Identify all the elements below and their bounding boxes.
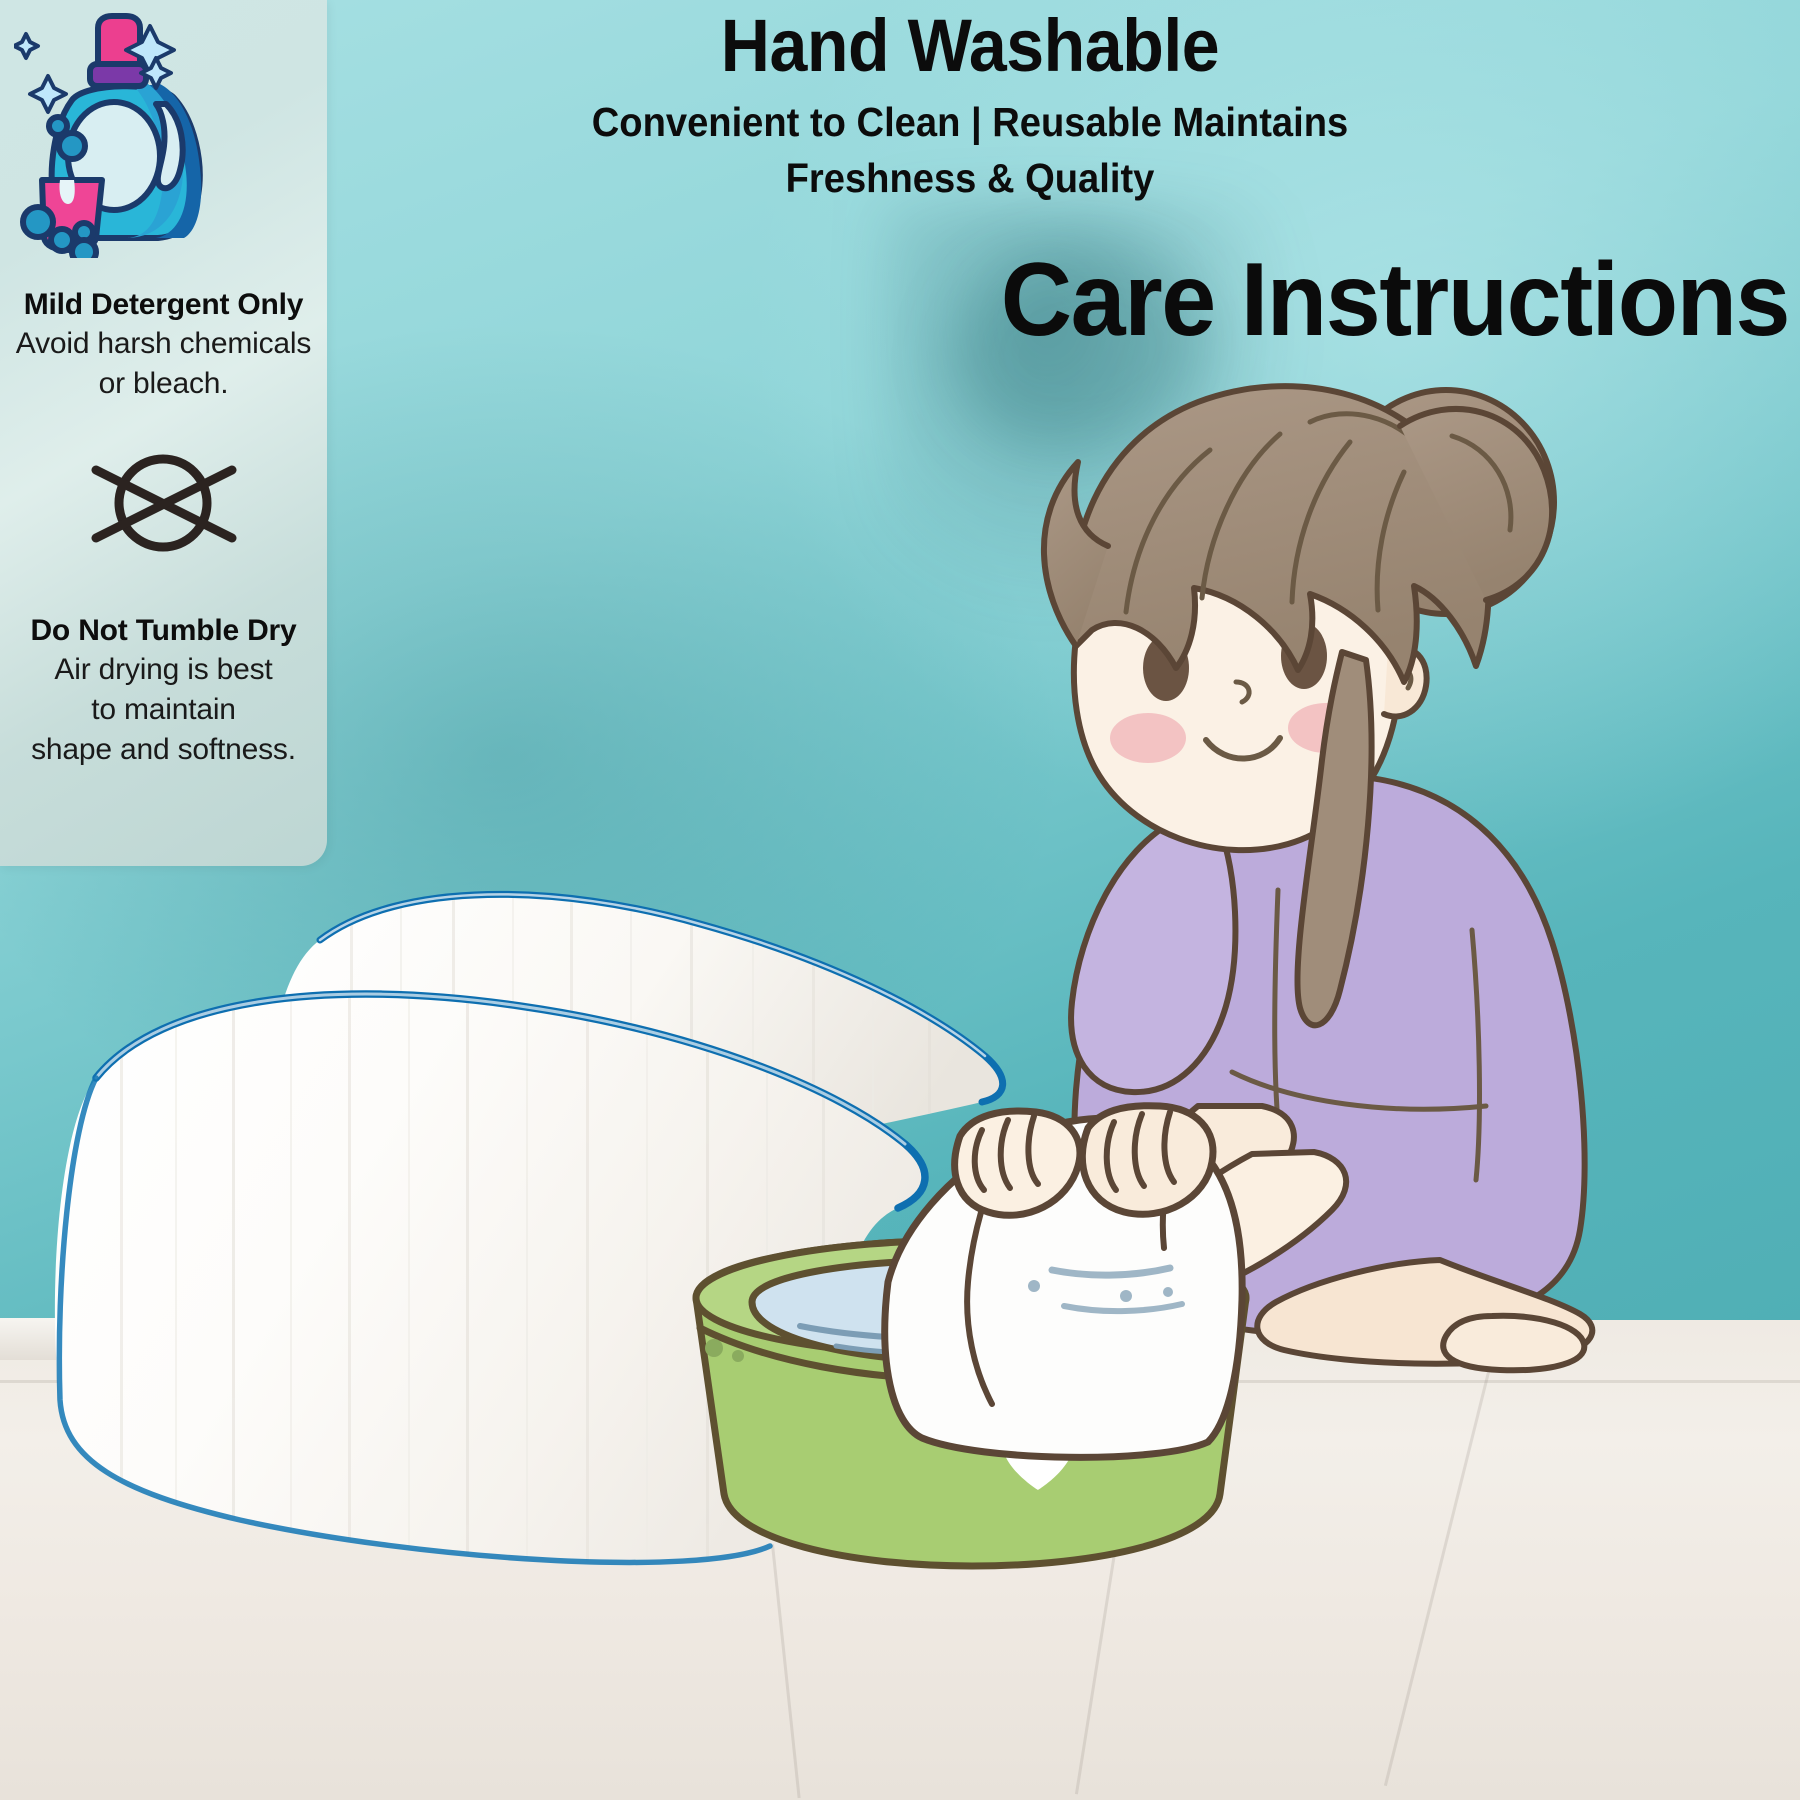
detergent-bottle-icon xyxy=(14,8,244,258)
detergent-title: Mild Detergent Only xyxy=(0,286,327,324)
tumble-dry-title: Do Not Tumble Dry xyxy=(0,612,327,650)
info-block-detergent: Mild Detergent Only Avoid harsh chemical… xyxy=(0,286,327,404)
info-block-tumble-dry: Do Not Tumble Dry Air drying is best to … xyxy=(0,612,327,770)
detergent-body-line1: Avoid harsh chemicals xyxy=(0,324,327,364)
detergent-body-line2: or bleach. xyxy=(0,364,327,404)
do-not-tumble-dry-icon xyxy=(68,448,258,558)
care-info-card: Mild Detergent Only Avoid harsh chemical… xyxy=(0,0,327,866)
care-instructions-graphic: Mild Detergent Only Avoid harsh chemical… xyxy=(0,0,1800,1800)
tumble-dry-body-line2: to maintain xyxy=(0,690,327,730)
tumble-dry-body-line3: shape and softness. xyxy=(0,730,327,770)
washing-hands xyxy=(930,1060,1290,1280)
tumble-dry-body-line1: Air drying is best xyxy=(0,650,327,690)
care-instructions-title: Care Instructions xyxy=(1001,248,1789,352)
